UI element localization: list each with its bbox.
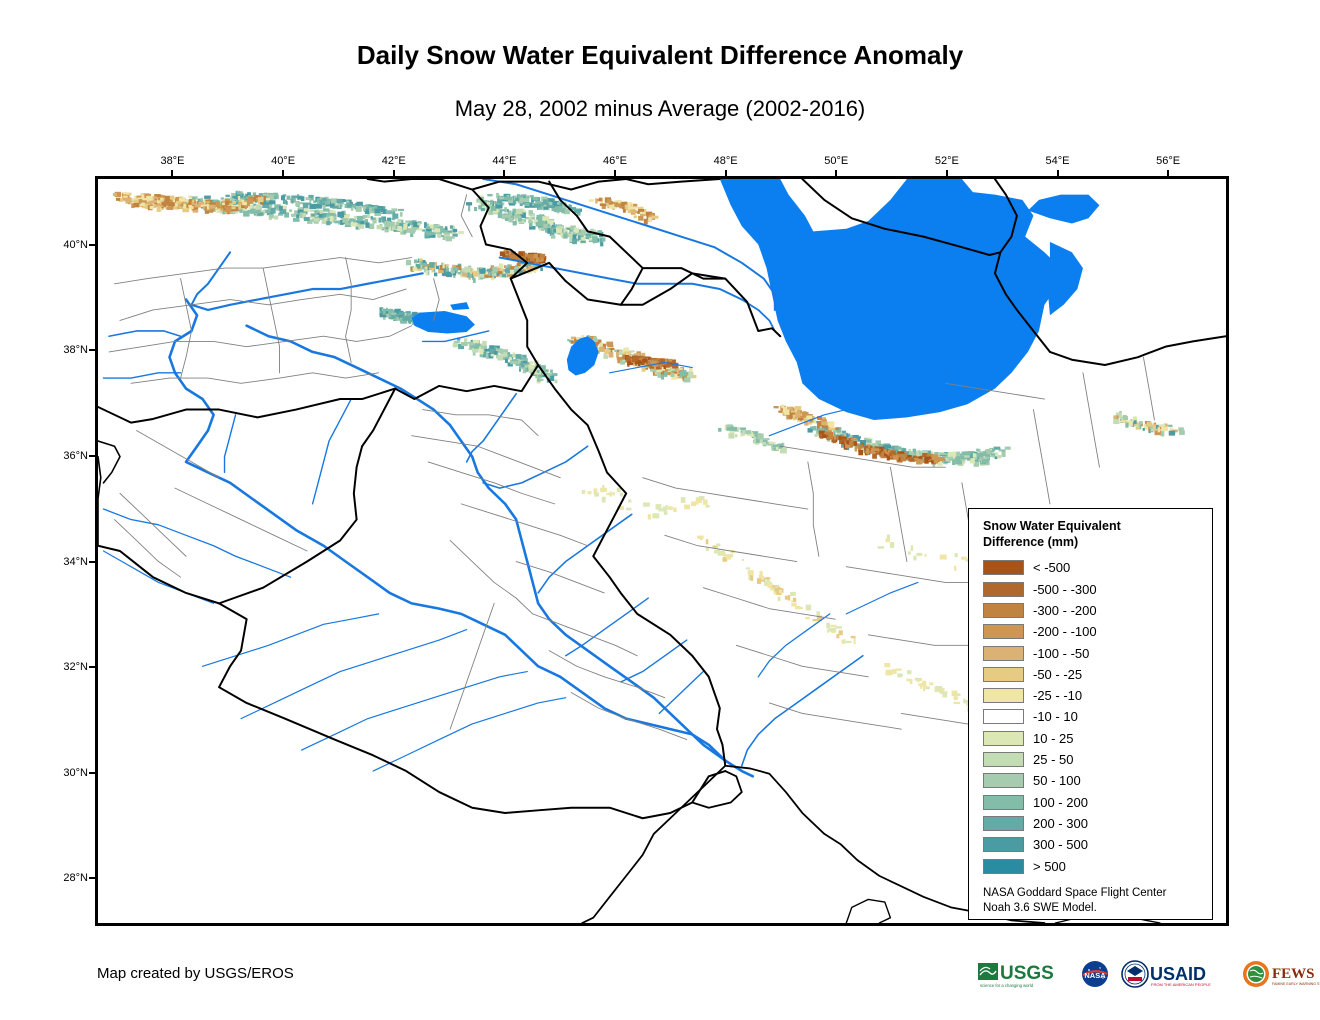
legend-row: 200 - 300 [983, 813, 1200, 834]
lon-tick-label: 44°E [492, 155, 516, 167]
lat-tick-label: 34°N [48, 556, 88, 568]
anomaly-alborz-fringe [774, 405, 840, 431]
legend-title: Snow Water Equivalent Difference (mm) [983, 519, 1200, 550]
lon-tick-label: 42°E [382, 155, 406, 167]
caspian-bay-cutout [1033, 179, 1105, 192]
svg-text:science for a changing world: science for a changing world [980, 983, 1034, 988]
lon-tick-label: 38°E [160, 155, 184, 167]
legend-row: 100 - 200 [983, 792, 1200, 813]
anomaly-east-caspian [1113, 411, 1185, 436]
border-iraq-iran [538, 365, 725, 766]
legend-swatch [983, 816, 1024, 831]
admin-boundary [450, 603, 494, 729]
lon-tick-label: 40°E [271, 155, 295, 167]
admin-boundary [1083, 373, 1100, 467]
usaid-logo: USAID FROM THE AMERICAN PEOPLE [1120, 959, 1232, 989]
legend-row: 10 - 25 [983, 728, 1200, 749]
svg-text:USAID: USAID [1150, 964, 1206, 984]
page-title: Daily Snow Water Equivalent Difference A… [0, 40, 1320, 71]
admin-boundary [109, 326, 412, 352]
lon-tick-label: 54°E [1046, 155, 1070, 167]
lat-tick-label: 38°N [48, 344, 88, 356]
legend-label: 300 - 500 [1033, 837, 1088, 852]
legend-row: 50 - 100 [983, 770, 1200, 791]
fewsnet-logo: FEWS FAMINE EARLY WARNING SYSTEMS NETWOR… [1241, 959, 1320, 989]
admin-boundary [769, 703, 901, 729]
admin-boundary [120, 493, 186, 556]
legend-swatch [983, 646, 1024, 661]
lat-tick-label: 40°N [48, 239, 88, 251]
tributary-1 [566, 598, 649, 656]
legend-row: -100 - -50 [983, 642, 1200, 663]
legend-row: -50 - -25 [983, 664, 1200, 685]
legend-label: 25 - 50 [1033, 752, 1073, 767]
legend-label: 10 - 25 [1033, 731, 1073, 746]
legend-swatch [983, 688, 1024, 703]
anomaly-zagros-central [697, 536, 856, 645]
coast-saudi-gulf [582, 766, 725, 923]
admin-boundary [703, 588, 835, 619]
tributary-3 [659, 672, 703, 714]
admin-boundary [263, 268, 279, 373]
legend-panel: Snow Water Equivalent Difference (mm) < … [968, 508, 1213, 920]
lon-tick-label: 46°E [603, 155, 627, 167]
admin-boundary [1033, 410, 1050, 504]
admin-boundary [346, 258, 352, 363]
legend-swatch [983, 837, 1024, 852]
nasa-logo: NASA [1079, 959, 1111, 989]
legend-swatch [983, 731, 1024, 746]
legend-label: -50 - -25 [1033, 667, 1082, 682]
murat-river [192, 273, 423, 310]
legend-row: 300 - 500 [983, 834, 1200, 855]
wadi-5 [373, 698, 566, 771]
lesser-zab [483, 446, 588, 488]
admin-boundary [412, 436, 561, 478]
admin-boundary [136, 430, 219, 477]
legend-label: -300 - -200 [1033, 603, 1097, 618]
legend-swatch [983, 859, 1024, 874]
lat-tick-label: 30°N [48, 767, 88, 779]
admin-boundary [131, 373, 379, 384]
legend-row: -200 - -100 [983, 621, 1200, 642]
admin-boundary [643, 478, 808, 509]
legend-label: -10 - 10 [1033, 709, 1078, 724]
admin-boundary [120, 289, 406, 320]
lake-van [412, 311, 475, 334]
legend-swatch [983, 560, 1024, 575]
legend-swatch [983, 773, 1024, 788]
lon-tick-label: 52°E [935, 155, 959, 167]
dez-river [758, 614, 830, 677]
legend-label: 100 - 200 [1033, 795, 1088, 810]
legend-row: < -500 [983, 557, 1200, 578]
anomaly-hakkari [453, 338, 558, 384]
caspian-east-shelf [1047, 242, 1083, 315]
map-page: Daily Snow Water Equivalent Difference A… [0, 0, 1320, 1020]
wadi-4 [302, 672, 528, 751]
svg-text:FAMINE EARLY WARNING SYSTEMS N: FAMINE EARLY WARNING SYSTEMS NETWORK [1272, 982, 1320, 986]
lat-tick-label: 32°N [48, 661, 88, 673]
legend-swatch [983, 752, 1024, 767]
border-syria-iraq [219, 389, 395, 604]
admin-boundary [549, 651, 665, 698]
tributary-2 [621, 640, 687, 682]
legend-label: -100 - -50 [1033, 646, 1089, 661]
admin-boundary [571, 692, 687, 739]
legend-swatch [983, 709, 1024, 724]
border-azerbaijan-russia [626, 179, 720, 184]
diyala-river [538, 514, 632, 593]
zayandeh-rud [846, 582, 918, 613]
legend-row: -300 - -200 [983, 600, 1200, 621]
svg-text:FROM THE AMERICAN PEOPLE: FROM THE AMERICAN PEOPLE [1151, 982, 1211, 987]
usgs-logo: USGS science for a changing world [978, 959, 1070, 989]
balikh-river [225, 415, 236, 473]
admin-boundary [808, 462, 819, 556]
legend-row: > 500 [983, 855, 1200, 876]
legend-label: < -500 [1033, 560, 1070, 575]
svg-text:USGS: USGS [1000, 963, 1054, 984]
legend-row: 25 - 50 [983, 749, 1200, 770]
lon-tick-label: 50°E [824, 155, 848, 167]
legend-class-list: < -500-500 - -300-300 - -200-200 - -100-… [983, 557, 1200, 876]
legend-label: 200 - 300 [1033, 816, 1088, 831]
lat-tick-label: 36°N [48, 450, 88, 462]
legend-swatch [983, 582, 1024, 597]
legend-row: -25 - -10 [983, 685, 1200, 706]
admin-boundary [736, 645, 868, 676]
coast-qatar [846, 899, 890, 923]
legend-swatch [983, 624, 1024, 639]
legend-label: -25 - -10 [1033, 688, 1082, 703]
lon-tick-label: 56°E [1156, 155, 1180, 167]
lake-ercek [450, 302, 469, 310]
legend-label: 50 - 100 [1033, 773, 1081, 788]
legend-credit: NASA Goddard Space Flight Center Noah 3.… [983, 886, 1200, 916]
admin-boundary [175, 488, 307, 551]
border-iran-turkmenistan [1050, 336, 1226, 365]
legend-swatch [983, 667, 1024, 682]
legend-swatch [983, 795, 1024, 810]
svg-text:FEWS: FEWS [1272, 966, 1315, 982]
admin-boundary [461, 504, 588, 546]
wadi-hauran [203, 614, 379, 666]
legend-label: -200 - -100 [1033, 624, 1097, 639]
agency-logos: USGS science for a changing world NASA [978, 957, 1320, 991]
admin-boundary [461, 195, 472, 237]
admin-boundary [423, 410, 538, 436]
admin-boundary [450, 540, 533, 613]
caspian-east-lobe [1028, 195, 1100, 224]
legend-row: -500 - -300 [983, 579, 1200, 600]
svg-text:NASA: NASA [1084, 971, 1106, 980]
khabur-river [313, 399, 352, 504]
tohma-river [109, 331, 181, 336]
footer-credit: Map created by USGS/EROS [97, 965, 294, 982]
admin-boundary [1143, 357, 1154, 420]
legend-swatch [983, 603, 1024, 618]
admin-boundary [115, 258, 412, 284]
admin-boundary [115, 520, 181, 578]
legend-label: > 500 [1033, 859, 1066, 874]
anomaly-zagros-south [884, 663, 977, 712]
anomaly-zanjan [718, 424, 787, 453]
lat-tick-label: 28°N [48, 872, 88, 884]
coast-mediterranean [98, 457, 101, 546]
river-tr-1 [103, 373, 180, 378]
legend-label: -500 - -300 [1033, 582, 1097, 597]
page-subtitle: May 28, 2002 minus Average (2002-2016) [0, 96, 1320, 122]
admin-boundary [846, 567, 978, 583]
karun-river [742, 656, 863, 766]
admin-boundary [181, 279, 192, 378]
lon-tick-label: 48°E [714, 155, 738, 167]
karasu-river [192, 252, 231, 304]
aras-lower [742, 300, 775, 331]
legend-row: -10 - 10 [983, 706, 1200, 727]
